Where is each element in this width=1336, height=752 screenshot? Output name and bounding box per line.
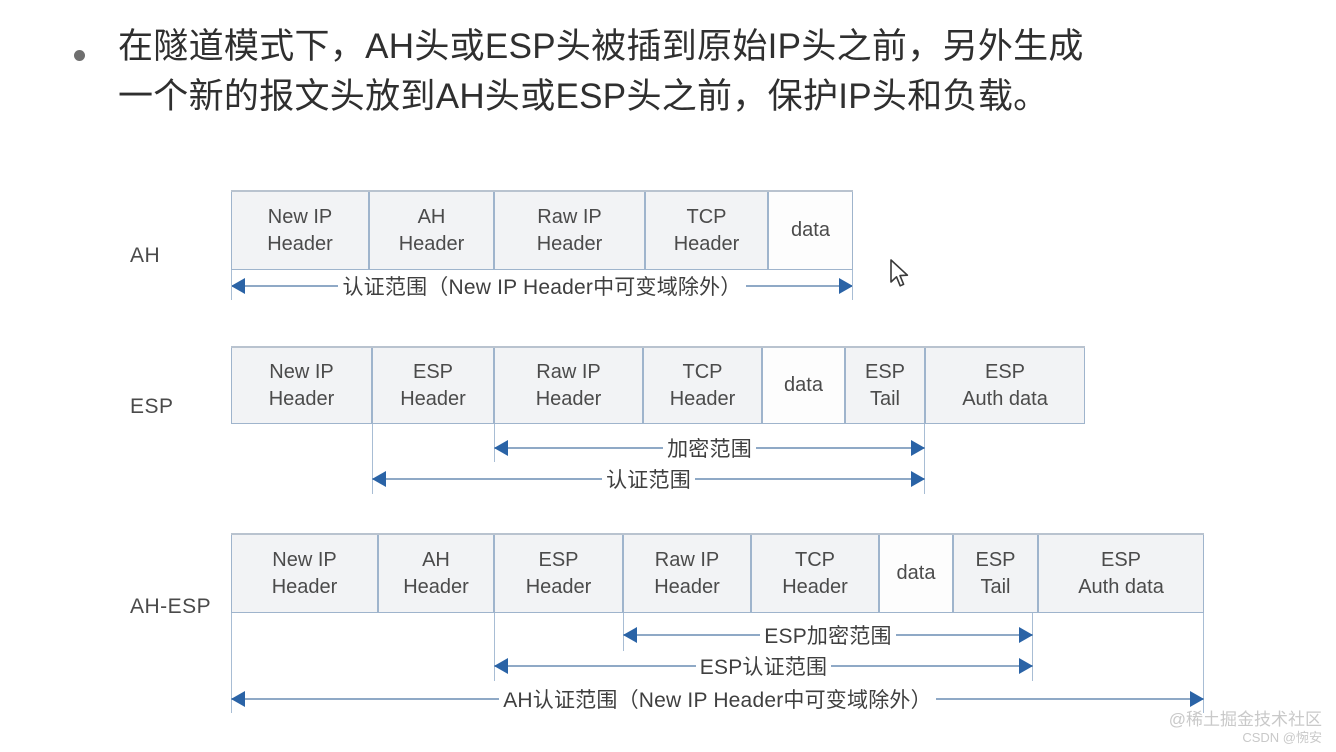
packet-cell: New IP Header <box>231 535 378 612</box>
cell-line-2: Tail <box>980 574 1010 601</box>
cell-line-1: ESP <box>975 547 1015 574</box>
cell-line-1: TCP <box>683 359 723 386</box>
cell-line-1: ESP <box>538 547 578 574</box>
scope-label: 认证范围（New IP Header中可变域除外） <box>338 271 745 301</box>
packet-cell: data <box>768 192 853 269</box>
packet-cell: data <box>762 348 845 423</box>
packet-cell: AH Header <box>378 535 494 612</box>
packet-cell: TCP Header <box>643 348 762 423</box>
cell-line-1: New IP <box>269 359 333 386</box>
packet-cell: ESP Auth data <box>1038 535 1204 612</box>
cell-line-2: Header <box>537 231 603 258</box>
packet-cell: ESP Header <box>372 348 494 423</box>
packet-cell: TCP Header <box>645 192 768 269</box>
watermark-line-1: @稀土掘金技术社区 <box>1169 709 1322 730</box>
packet-cell: New IP Header <box>231 348 372 423</box>
cell-line-2: Header <box>399 231 465 258</box>
packet-cells-esp: New IP Header ESP Header Raw IP Header T… <box>231 346 1085 424</box>
bullet-paragraph: 在隧道模式下，AH头或ESP头被插到原始IP头之前，另外生成 一个新的报文头放到… <box>70 22 1280 121</box>
cell-line-2: Auth data <box>1078 574 1164 601</box>
cell-line-1: data <box>897 560 936 587</box>
cell-line-2: Header <box>536 386 602 413</box>
cell-line-1: TCP <box>687 204 727 231</box>
row-label-ah-esp: AH-ESP <box>130 595 211 619</box>
packet-cell: AH Header <box>369 192 494 269</box>
cell-line-1: New IP <box>272 547 336 574</box>
cell-line-1: AH <box>418 204 446 231</box>
packet-cells-ah-esp: New IP Header AH Header ESP Header Raw I… <box>231 533 1204 613</box>
scope-label: AH认证范围（New IP Header中可变域除外） <box>499 684 936 714</box>
bullet-line-2: 一个新的报文头放到AH头或ESP头之前，保护IP头和负载。 <box>118 72 1280 122</box>
mouse-cursor-icon <box>889 258 911 290</box>
scope-label: 加密范围 <box>663 433 756 463</box>
packet-cell: ESP Tail <box>953 535 1038 612</box>
scope-arrow-ah-auth: 认证范围（New IP Header中可变域除外） <box>231 273 853 299</box>
cell-line-2: Header <box>670 386 736 413</box>
cell-line-1: data <box>784 372 823 399</box>
cell-line-2: Header <box>267 231 333 258</box>
cell-line-2: Auth data <box>962 386 1048 413</box>
arrow-head-left-icon <box>494 440 508 456</box>
cell-line-2: Header <box>272 574 338 601</box>
cell-line-2: Tail <box>870 386 900 413</box>
cell-line-1: New IP <box>268 204 332 231</box>
bullet-text: 在隧道模式下，AH头或ESP头被插到原始IP头之前，另外生成 一个新的报文头放到… <box>118 22 1280 121</box>
scope-label: 认证范围 <box>602 464 695 494</box>
row-label-ah: AH <box>130 244 160 268</box>
bullet-marker-icon <box>74 50 85 61</box>
packet-cell: Raw IP Header <box>494 192 645 269</box>
guide-line <box>852 270 853 300</box>
cell-line-1: AH <box>422 547 450 574</box>
cell-line-1: Raw IP <box>536 359 600 386</box>
packet-cell: Raw IP Header <box>623 535 751 612</box>
packet-cell: Raw IP Header <box>494 348 643 423</box>
guide-line <box>231 270 232 300</box>
cell-line-1: Raw IP <box>537 204 601 231</box>
arrow-head-left-icon <box>494 658 508 674</box>
cell-line-1: ESP <box>865 359 905 386</box>
packet-cell: ESP Auth data <box>925 348 1085 423</box>
cell-line-2: Header <box>782 574 848 601</box>
arrow-head-right-icon <box>839 278 853 294</box>
arrow-head-right-icon <box>1019 658 1033 674</box>
watermark: @稀土掘金技术社区 CSDN @惋安 <box>1169 709 1322 747</box>
cell-line-1: Raw IP <box>655 547 719 574</box>
cell-line-2: Header <box>403 574 469 601</box>
cell-line-1: TCP <box>795 547 835 574</box>
arrow-head-left-icon <box>231 691 245 707</box>
bullet-line-1: 在隧道模式下，AH头或ESP头被插到原始IP头之前，另外生成 <box>118 22 1280 72</box>
arrow-head-right-icon <box>1190 691 1204 707</box>
cell-line-2: Header <box>674 231 740 258</box>
cell-line-2: Header <box>654 574 720 601</box>
packet-cells-ah: New IP Header AH Header Raw IP Header TC… <box>231 190 853 270</box>
cell-line-2: Header <box>269 386 335 413</box>
scope-arrow-esp-auth: 认证范围 <box>372 466 925 492</box>
arrow-head-left-icon <box>231 278 245 294</box>
arrow-head-right-icon <box>911 440 925 456</box>
scope-arrow-ahesp-esp-auth: ESP认证范围 <box>494 653 1033 679</box>
scope-label: ESP认证范围 <box>696 651 831 681</box>
packet-cell: data <box>879 535 953 612</box>
packet-cell: ESP Header <box>494 535 623 612</box>
cell-line-1: ESP <box>1101 547 1141 574</box>
arrow-head-right-icon <box>1019 627 1033 643</box>
cell-line-1: ESP <box>985 359 1025 386</box>
scope-arrow-esp-encryption: 加密范围 <box>494 435 925 461</box>
packet-cell: ESP Tail <box>845 348 925 423</box>
arrow-head-left-icon <box>623 627 637 643</box>
arrow-head-left-icon <box>372 471 386 487</box>
cell-line-2: Header <box>400 386 466 413</box>
scope-arrow-ahesp-ah-auth: AH认证范围（New IP Header中可变域除外） <box>231 686 1204 712</box>
arrow-head-right-icon <box>911 471 925 487</box>
scope-label: ESP加密范围 <box>760 620 895 650</box>
row-label-esp: ESP <box>130 395 174 419</box>
ipsec-tunnel-mode-diagram: AH New IP Header AH Header Raw IP Header… <box>0 170 1336 730</box>
packet-cell: TCP Header <box>751 535 879 612</box>
cell-line-2: Header <box>526 574 592 601</box>
scope-arrow-ahesp-esp-encryption: ESP加密范围 <box>623 622 1033 648</box>
watermark-line-2: CSDN @惋安 <box>1169 730 1322 746</box>
packet-cell: New IP Header <box>231 192 369 269</box>
cell-line-1: data <box>791 217 830 244</box>
cell-line-1: ESP <box>413 359 453 386</box>
